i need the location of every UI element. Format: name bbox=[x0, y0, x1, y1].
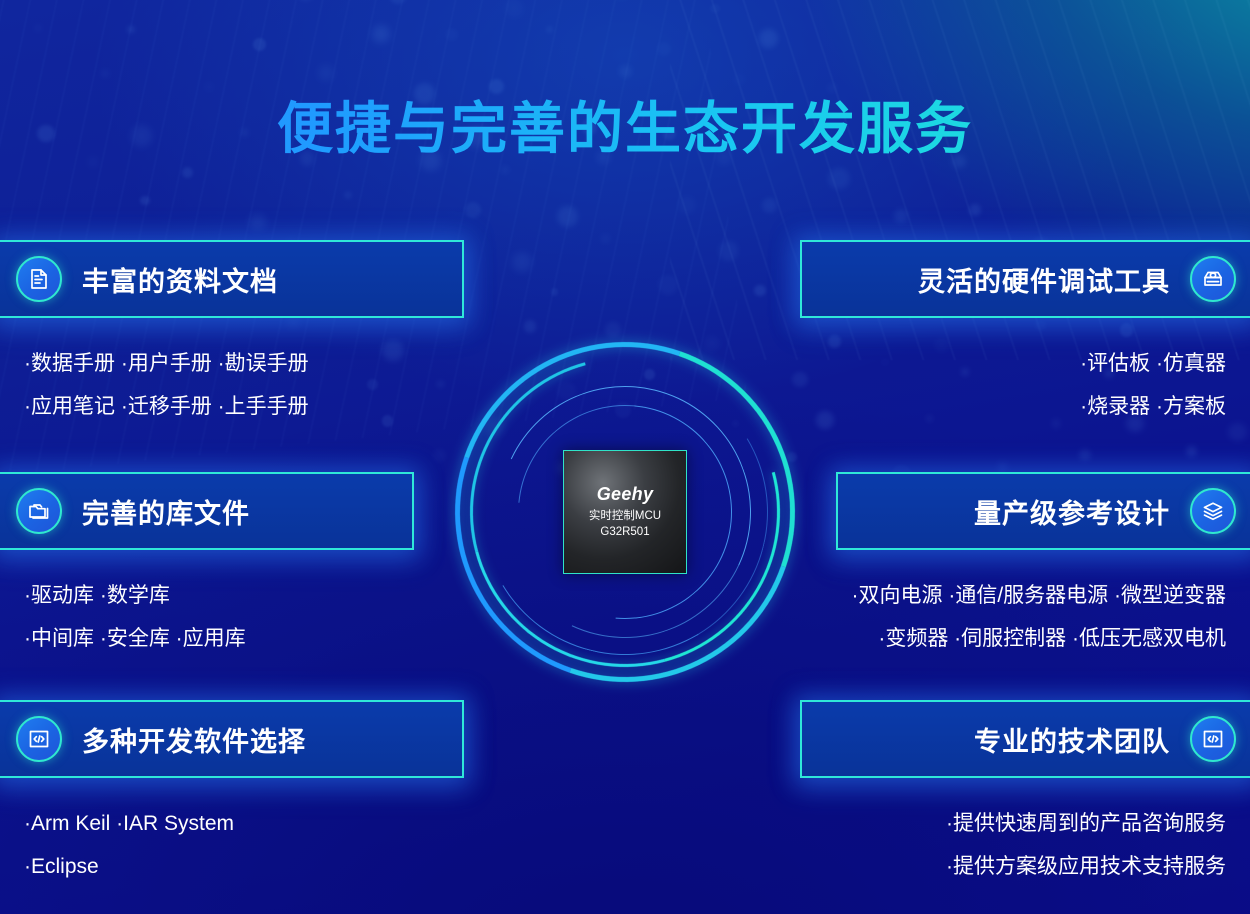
panel-heading: 完善的库文件 bbox=[82, 492, 250, 531]
bullet-row: ·烧录器 ·方案板 bbox=[1080, 396, 1226, 417]
panel-hardware-debug[interactable]: 灵活的硬件调试工具 bbox=[800, 240, 1250, 318]
chip-line-2: G32R501 bbox=[600, 525, 649, 541]
code-icon bbox=[1190, 716, 1236, 762]
bullet-row: ·双向电源 ·通信/服务器电源 ·微型逆变器 bbox=[852, 585, 1226, 606]
bullets-libraries: ·驱动库 ·数学库 ·中间库 ·安全库 ·应用库 bbox=[24, 585, 246, 649]
panel-heading: 丰富的资料文档 bbox=[82, 260, 278, 299]
bullet-row: ·驱动库 ·数学库 bbox=[24, 585, 246, 606]
panel-heading: 量产级参考设计 bbox=[974, 492, 1170, 531]
bullet-row: ·提供快速周到的产品咨询服务 bbox=[946, 813, 1226, 834]
panel-software[interactable]: 多种开发软件选择 bbox=[0, 700, 464, 778]
infographic-stage: 便捷与完善的生态开发服务 Geehy 实时控制MCU G32R501 丰富的资料… bbox=[0, 0, 1250, 914]
bullets-documents: ·数据手册 ·用户手册 ·勘误手册 ·应用笔记 ·迁移手册 ·上手手册 bbox=[24, 353, 309, 417]
folder-icon bbox=[16, 488, 62, 534]
panel-documents[interactable]: 丰富的资料文档 bbox=[0, 240, 464, 318]
hardware-icon bbox=[1190, 256, 1236, 302]
bullet-row: ·中间库 ·安全库 ·应用库 bbox=[24, 628, 246, 649]
bullet-row: ·Eclipse bbox=[24, 856, 234, 877]
panel-heading: 专业的技术团队 bbox=[974, 720, 1170, 759]
bullet-row: ·提供方案级应用技术支持服务 bbox=[946, 856, 1226, 877]
panel-heading: 灵活的硬件调试工具 bbox=[918, 260, 1170, 299]
bullets-hardware-debug: ·评估板 ·仿真器 ·烧录器 ·方案板 bbox=[1080, 353, 1226, 417]
page-title: 便捷与完善的生态开发服务 bbox=[0, 84, 1250, 165]
layers-icon bbox=[1190, 488, 1236, 534]
chip-brand: Geehy bbox=[597, 484, 654, 505]
code-icon bbox=[16, 716, 62, 762]
bullet-row: ·变频器 ·伺服控制器 ·低压无感双电机 bbox=[852, 628, 1226, 649]
bullet-row: ·评估板 ·仿真器 bbox=[1080, 353, 1226, 374]
chip-line-1: 实时控制MCU bbox=[589, 509, 661, 525]
bullet-row: ·应用笔记 ·迁移手册 ·上手手册 bbox=[24, 396, 309, 417]
document-icon bbox=[16, 256, 62, 302]
bullets-reference-design: ·双向电源 ·通信/服务器电源 ·微型逆变器 ·变频器 ·伺服控制器 ·低压无感… bbox=[852, 585, 1226, 649]
panel-reference-design[interactable]: 量产级参考设计 bbox=[836, 472, 1250, 550]
panel-libraries[interactable]: 完善的库文件 bbox=[0, 472, 414, 550]
panel-heading: 多种开发软件选择 bbox=[82, 720, 306, 759]
mcu-chip: Geehy 实时控制MCU G32R501 bbox=[563, 450, 687, 574]
bullets-software: ·Arm Keil ·IAR System ·Eclipse bbox=[24, 813, 234, 877]
bullets-tech-team: ·提供快速周到的产品咨询服务 ·提供方案级应用技术支持服务 bbox=[946, 813, 1226, 877]
bullet-row: ·Arm Keil ·IAR System bbox=[24, 813, 234, 834]
panel-tech-team[interactable]: 专业的技术团队 bbox=[800, 700, 1250, 778]
bullet-row: ·数据手册 ·用户手册 ·勘误手册 bbox=[24, 353, 309, 374]
